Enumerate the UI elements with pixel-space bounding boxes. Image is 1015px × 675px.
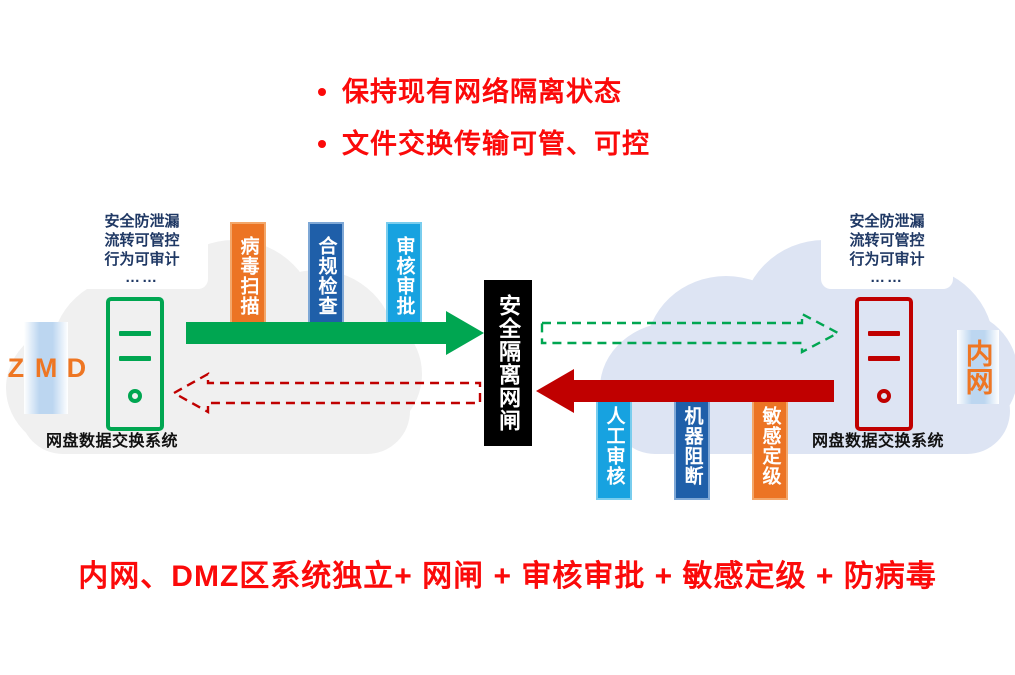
chip-sensitive-grading-label: 敏感定级 <box>760 406 781 486</box>
chip-review-approval-label: 审核审批 <box>394 236 415 316</box>
arrow-inbound-dashed-red <box>172 370 482 416</box>
bullet-text: 文件交换传输可管、可控 <box>342 128 650 160</box>
arrow-outbound-solid-green <box>186 310 486 356</box>
callout-dmz: 安全防泄漏 流转可管控 行为可审计 …… <box>76 206 208 289</box>
chip-machine-block-label: 机器阻断 <box>682 406 703 486</box>
callout-connector-dots-icon: …… <box>84 271 200 285</box>
zone-label-dmz-text: DMZ <box>1 353 92 383</box>
callout-line-2: 流转可管控 <box>84 231 200 250</box>
server-icon-dmz <box>106 297 164 431</box>
zone-label-dmz: DMZ <box>24 322 68 414</box>
diagram-canvas: 保持现有网络隔离状态 文件交换传输可管、可控 DMZ 内网 安全防泄漏 流转可管… <box>0 0 1015 675</box>
server-bar-icon <box>119 356 151 361</box>
arrow-outbound-dashed-green <box>540 310 840 356</box>
callout-intranet: 安全防泄漏 流转可管控 行为可审计 …… <box>821 206 953 289</box>
summary-text: 内网、DMZ区系统独立+ 网闸 + 审核审批 + 敏感定级 + 防病毒 <box>0 551 1015 595</box>
bullet-text: 保持现有网络隔离状态 <box>342 76 622 108</box>
bullet-dot-icon <box>318 140 326 148</box>
callout-line-1: 安全防泄漏 <box>84 212 200 231</box>
bullet-item: 保持现有网络隔离状态 <box>318 76 798 108</box>
callout-line-3: 行为可审计 <box>829 250 945 269</box>
bullet-list: 保持现有网络隔离状态 文件交换传输可管、可控 <box>318 76 798 180</box>
callout-line-2: 流转可管控 <box>829 231 945 250</box>
bullet-item: 文件交换传输可管、可控 <box>318 128 798 160</box>
server-power-icon <box>128 389 142 403</box>
server-bar-icon <box>868 356 900 361</box>
callout-line-1: 安全防泄漏 <box>829 212 945 231</box>
caption-dmz-system: 网盘数据交换系统 <box>46 427 178 451</box>
chip-manual-review-label: 人工审核 <box>604 406 625 486</box>
zone-label-intranet-text: 内网 <box>962 339 993 395</box>
callout-connector-dots-icon: …… <box>829 271 945 285</box>
server-bar-icon <box>119 331 151 336</box>
caption-intranet-system: 网盘数据交换系统 <box>812 427 944 451</box>
server-icon-intranet <box>855 297 913 431</box>
zone-label-intranet: 内网 <box>957 330 999 404</box>
bullet-dot-icon <box>318 88 326 96</box>
chip-virus-scan-label: 病毒扫描 <box>238 236 259 316</box>
security-gateway-label: 安全隔离网闸 <box>496 294 520 432</box>
security-gateway-box: 安全隔离网闸 <box>484 280 532 446</box>
chip-compliance-check-label: 合规检查 <box>316 236 337 316</box>
callout-line-3: 行为可审计 <box>84 250 200 269</box>
server-power-icon <box>877 389 891 403</box>
server-bar-icon <box>868 331 900 336</box>
arrow-inbound-solid-red <box>534 368 834 414</box>
